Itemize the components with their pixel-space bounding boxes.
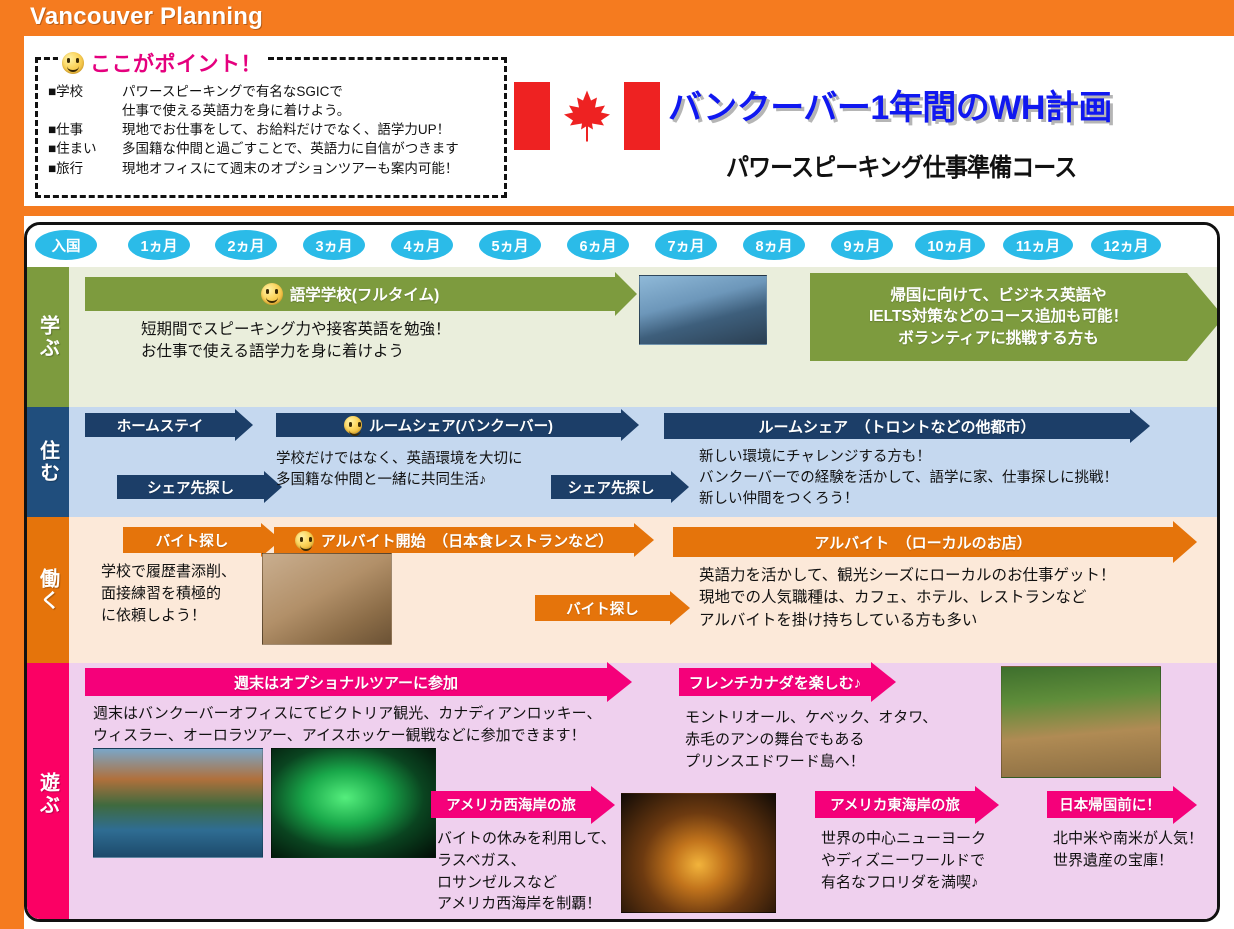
list-item: ■仕事 現地でお仕事をして、お給料だけでなく、語学力UP！ <box>48 120 498 139</box>
row-label-live: 住む <box>27 407 69 517</box>
key-points-box: ここがポイント！ ■学校 パワースピーキングで有名なSGICで 仕事で使える英語… <box>35 57 507 198</box>
play-bar-french-canada[interactable]: フレンチカナダを楽しむ♪ <box>679 668 871 696</box>
work-bar-start-parttime-label: アルバイト開始 （日本食レストランなど） <box>321 530 613 551</box>
row-play: 遊ぶ 週末はオプショナルツアーに参加 週末はバンクーバーオフィスにてビクトリア観… <box>27 663 1220 922</box>
timeline-pill-11[interactable]: 11ヵ月 <box>1003 230 1073 260</box>
live-description-2: 新しい環境にチャレンジする方も！ バンクーバーでの経験を活かして、語学に家、仕事… <box>699 447 1118 510</box>
arrow-tip-icon <box>1173 521 1197 563</box>
timeline-chart: 入国 1ヵ月 2ヵ月 3ヵ月 4ヵ月 5ヵ月 6ヵ月 7ヵ月 8ヵ月 9ヵ月 1… <box>24 222 1220 922</box>
play-bar-us-west-coast[interactable]: アメリカ西海岸の旅 <box>431 791 591 818</box>
timeline-pill-5[interactable]: 5ヵ月 <box>479 230 541 260</box>
list-item: ■学校 パワースピーキングで有名なSGICで 仕事で使える英語力を身に着けよう。 <box>48 82 498 120</box>
point-label: ■旅行 <box>48 159 122 178</box>
timeline-pill-6[interactable]: 6ヵ月 <box>567 230 629 260</box>
flag-right-bar <box>624 82 660 150</box>
timeline-pill-4[interactable]: 4ヵ月 <box>391 230 453 260</box>
smiley-icon <box>295 531 314 550</box>
live-bar-roomshare-vancouver[interactable]: ルームシェア(バンクーバー) <box>276 413 621 437</box>
work-bar-parttime-local-label: アルバイト （ローカルのお店） <box>814 532 1031 553</box>
live-bar-roomshare-other-cities[interactable]: ルームシェア （トロントなどの他都市） <box>664 413 1130 439</box>
arrow-tip-icon <box>975 786 999 824</box>
play-description-4: 世界の中心ニューヨーク やディズニーワールドで 有名なフロリダを満喫♪ <box>821 828 986 893</box>
point-value: 現地オフィスにて週末のオプションツアーも案内可能！ <box>122 159 458 178</box>
work-bar-find-job-2-label: バイト探し <box>566 598 639 619</box>
play-bar-before-return[interactable]: 日本帰国前に！ <box>1047 791 1173 818</box>
play-description-3: バイトの休みを利用して、 ラスベガス、 ロサンゼルスなど アメリカ西海岸を制覇！ <box>437 828 616 915</box>
play-bar-us-east-coast[interactable]: アメリカ東海岸の旅 <box>815 791 975 818</box>
study-bar-language-school-label: 語学学校(フルタイム) <box>290 283 440 305</box>
play-bar-us-east-coast-label: アメリカ東海岸の旅 <box>830 794 960 815</box>
arrow-tip-icon <box>634 523 654 557</box>
timeline-pill-10[interactable]: 10ヵ月 <box>915 230 985 260</box>
study-bar-return-prep[interactable]: 帰国に向けて、ビジネス英語や IELTS対策などのコース追加も可能！ ボランティ… <box>810 273 1187 361</box>
row-study: 学ぶ 語学学校(フルタイム) 短期間でスピーキング力や接客英語を勉強！ お仕事で… <box>27 267 1220 407</box>
live-bar-roomshare-vancouver-label: ルームシェア(バンクーバー) <box>369 415 553 436</box>
arrow-tip-icon <box>235 409 253 441</box>
live-description-1: 学校だけではなく、英語環境を大切に 多国籍な仲間と一緒に共同生活♪ <box>276 449 523 491</box>
job-magnifier-photo <box>262 553 392 645</box>
point-label: ■学校 <box>48 82 122 101</box>
live-bar-roomshare-other-cities-label: ルームシェア （トロントなどの他都市） <box>758 416 1035 437</box>
live-bar-find-share-2-label: シェア先探し <box>568 477 655 498</box>
arrow-tip-icon <box>591 786 615 824</box>
row-live: 住む ホームステイ ルームシェア(バンクーバー) シェア先探し 学校だけではなく… <box>27 407 1220 517</box>
timeline-pill-12[interactable]: 12ヵ月 <box>1091 230 1161 260</box>
play-bar-french-canada-label: フレンチカナダを楽しむ♪ <box>689 672 862 693</box>
classroom-students-photo <box>639 275 767 345</box>
play-description-2: モントリオール、ケベック、オタワ、 赤毛のアンの舞台でもある プリンスエドワード… <box>685 707 937 772</box>
play-bar-us-west-coast-label: アメリカ西海岸の旅 <box>446 794 576 815</box>
live-bar-find-share-1-label: シェア先探し <box>147 477 234 498</box>
point-label: ■仕事 <box>48 120 122 139</box>
timeline-pill-1[interactable]: 1ヵ月 <box>128 230 190 260</box>
timeline-pill-3[interactable]: 3ヵ月 <box>303 230 365 260</box>
work-bar-start-parttime[interactable]: アルバイト開始 （日本食レストランなど） <box>274 527 634 553</box>
arrow-tip-icon <box>1173 786 1197 824</box>
page-title: Vancouver Planning <box>30 3 263 31</box>
timeline-pill-7[interactable]: 7ヵ月 <box>655 230 717 260</box>
key-points-heading-label: ここがポイント！ <box>90 48 262 78</box>
play-bar-before-return-label: 日本帰国前に！ <box>1059 794 1161 815</box>
timeline-pill-2[interactable]: 2ヵ月 <box>215 230 277 260</box>
live-bar-find-share-1[interactable]: シェア先探し <box>117 475 264 499</box>
arrow-tip-icon <box>615 272 637 316</box>
row-work: 働く バイト探し アルバイト開始 （日本食レストランなど） 学校で履歴書添削、 … <box>27 517 1220 663</box>
work-description-1: 学校で履歴書添削、 面接練習を積極的 に依頼しよう！ <box>101 561 236 626</box>
smiley-icon <box>62 52 84 74</box>
play-bar-weekend-tours-label: 週末はオプショナルツアーに参加 <box>234 672 458 693</box>
row-label-work: 働く <box>27 517 69 663</box>
play-bar-weekend-tours[interactable]: 週末はオプショナルツアーに参加 <box>85 668 607 696</box>
arrow-tip-icon <box>871 662 896 702</box>
work-bar-find-job-1-label: バイト探し <box>156 530 229 551</box>
row-label-study: 学ぶ <box>27 267 69 407</box>
arrow-tip-icon <box>1187 273 1220 361</box>
main-title: バンクーバー1年間のWH計画 <box>668 80 1112 129</box>
play-description-5: 北中米や南米が人気！ 世界遺産の宝庫！ <box>1053 828 1203 872</box>
flag-left-bar <box>514 82 550 150</box>
key-points-heading: ここがポイント！ <box>58 48 266 78</box>
left-orange-rail <box>0 0 24 929</box>
aurora-borealis-photo <box>271 748 436 858</box>
work-bar-parttime-local[interactable]: アルバイト （ローカルのお店） <box>673 527 1173 557</box>
timeline-pill-0[interactable]: 入国 <box>35 230 97 260</box>
point-value: 多国籍な仲間と過ごすことで、英語力に自信がつきます <box>122 139 459 158</box>
header-divider-band <box>0 206 1234 216</box>
maple-leaf-icon <box>562 88 612 144</box>
row-label-play: 遊ぶ <box>27 663 69 922</box>
arrow-tip-icon <box>671 471 689 503</box>
key-points-list: ■学校 パワースピーキングで有名なSGICで 仕事で使える英語力を身に着けよう。… <box>48 82 498 178</box>
prince-edward-island-photo <box>1001 666 1161 778</box>
work-description-2: 英語力を活かして、観光シーズにローカルのお仕事ゲット！ 現地での人気職種は、カフ… <box>699 565 1116 632</box>
moraine-lake-photo <box>93 748 263 858</box>
live-bar-homestay-label: ホームステイ <box>117 415 204 436</box>
arrow-tip-icon <box>670 591 690 625</box>
timeline-pill-9[interactable]: 9ヵ月 <box>831 230 893 260</box>
arrow-tip-icon <box>621 409 639 441</box>
point-value: 現地でお仕事をして、お給料だけでなく、語学力UP！ <box>122 120 450 139</box>
arrow-tip-icon <box>607 662 632 702</box>
live-bar-homestay[interactable]: ホームステイ <box>85 413 235 437</box>
point-label: ■住まい <box>48 139 122 158</box>
timeline-header: 入国 1ヵ月 2ヵ月 3ヵ月 4ヵ月 5ヵ月 6ヵ月 7ヵ月 8ヵ月 9ヵ月 1… <box>27 225 1220 267</box>
study-bar-return-prep-label: 帰国に向けて、ビジネス英語や IELTS対策などのコース追加も可能！ ボランティ… <box>869 285 1128 349</box>
arrow-tip-icon <box>1130 409 1150 443</box>
list-item: ■旅行 現地オフィスにて週末のオプションツアーも案内可能！ <box>48 159 498 178</box>
smiley-icon <box>344 416 362 434</box>
list-item: ■住まい 多国籍な仲間と過ごすことで、英語力に自信がつきます <box>48 139 498 158</box>
sub-title: パワースピーキング仕事準備コース <box>726 148 1076 184</box>
live-bar-find-share-2[interactable]: シェア先探し <box>551 475 671 499</box>
work-bar-find-job-1[interactable]: バイト探し <box>123 527 261 553</box>
point-value: パワースピーキングで有名なSGICで 仕事で使える英語力を身に着けよう。 <box>122 82 350 120</box>
study-bar-language-school[interactable]: 語学学校(フルタイム) <box>85 277 615 311</box>
work-bar-find-job-2[interactable]: バイト探し <box>535 595 670 621</box>
canada-flag-icon <box>514 82 660 150</box>
smiley-icon <box>261 283 283 305</box>
study-description: 短期間でスピーキング力や接客英語を勉強！ お仕事で使える語学力を身に着けよう <box>141 319 451 364</box>
play-description-1: 週末はバンクーバーオフィスにてビクトリア観光、カナディアンロッキー、 ウィスラー… <box>93 703 602 747</box>
las-vegas-night-photo <box>621 793 776 913</box>
timeline-pill-8[interactable]: 8ヵ月 <box>743 230 805 260</box>
